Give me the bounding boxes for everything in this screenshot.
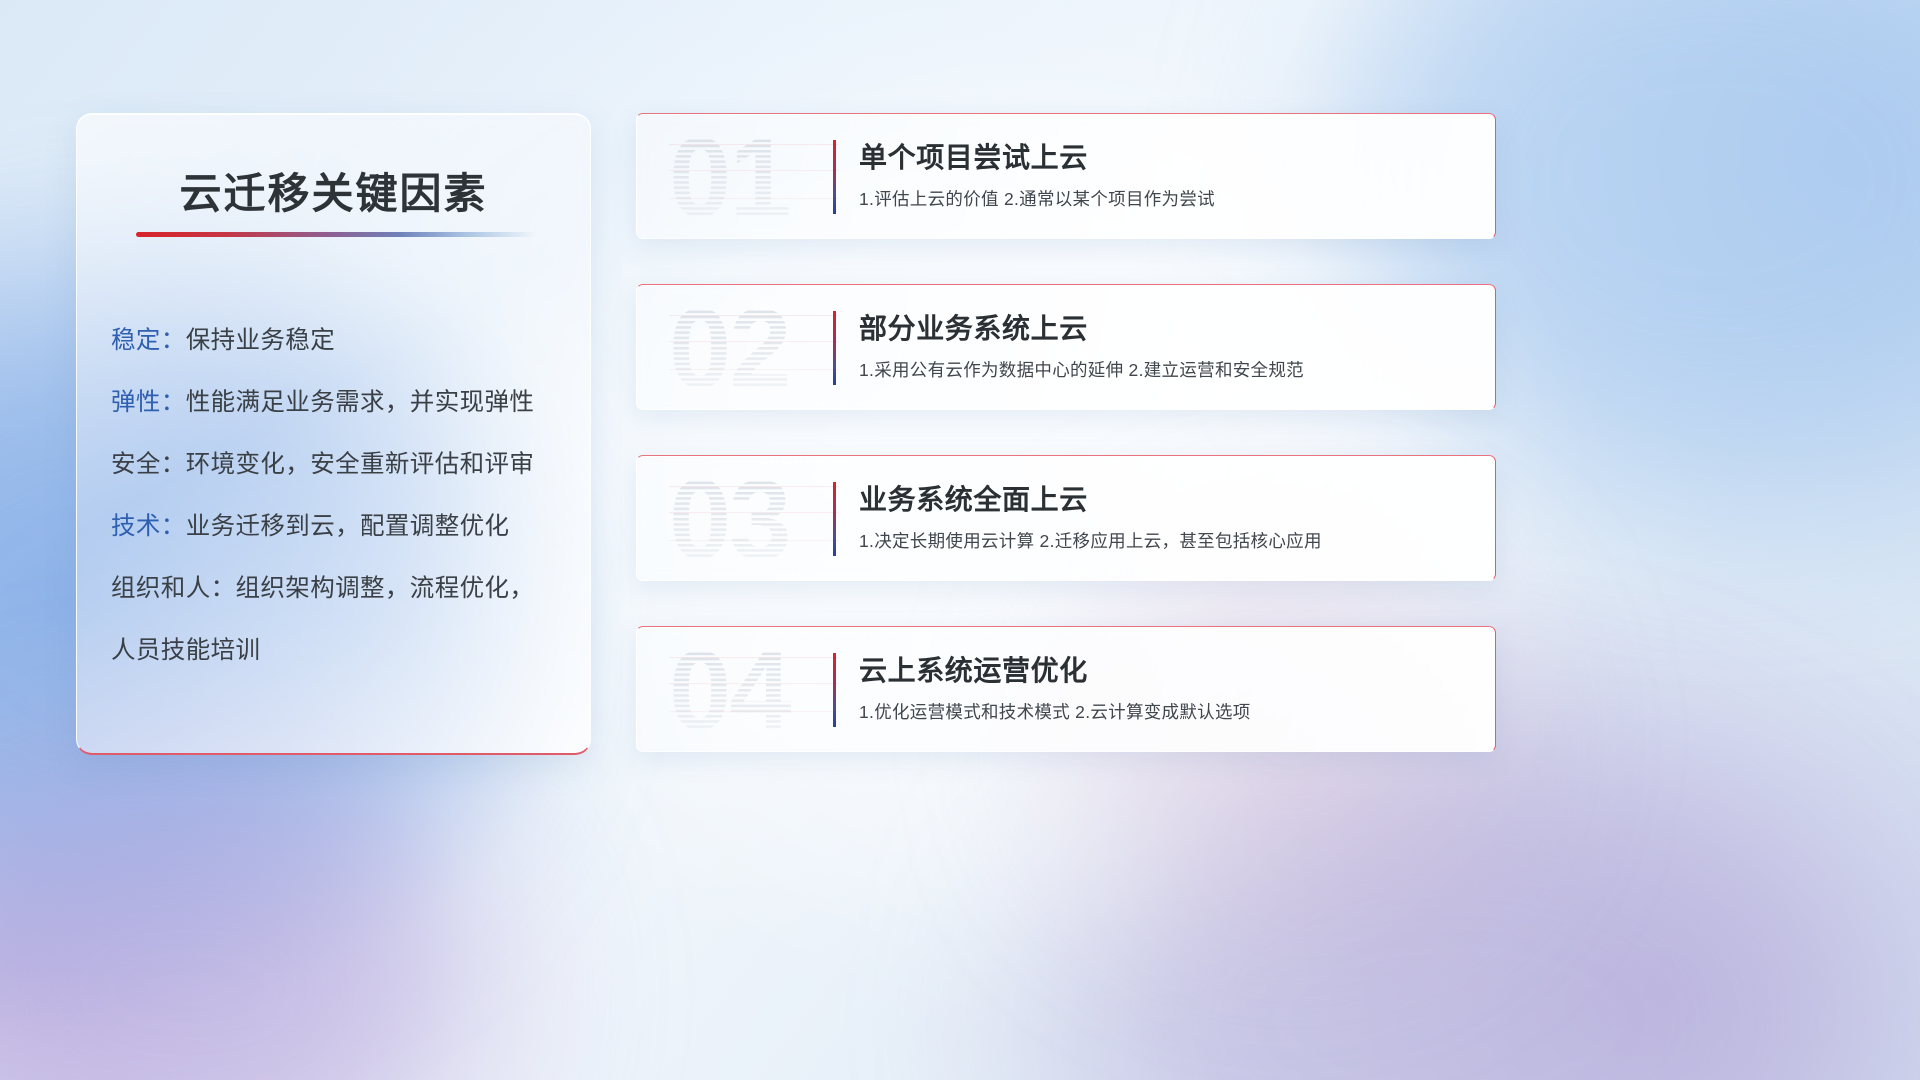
key-factor-text: 业务迁移到云，配置调整优化 [186, 513, 510, 540]
key-factors-list: 稳定：保持业务稳定弹性：性能满足业务需求，并实现弹性安全：环境变化，安全重新评估… [111, 310, 566, 682]
migration-stage-cards: 01单个项目尝试上云1.评估上云的价值 2.通常以某个项目作为尝试02部分业务系… [636, 113, 1496, 752]
stage-divider-bar [833, 140, 836, 214]
key-factor-text: 环境变化，安全重新评估和评审 [186, 451, 535, 478]
key-factor-label: 弹性： [111, 389, 186, 416]
stage-card-body: 业务系统全面上云1.决定长期使用云计算 2.迁移应用上云，甚至包括核心应用 [859, 481, 1473, 554]
key-factor-line: 技术：业务迁移到云，配置调整优化 [111, 496, 566, 558]
title-underline-rule [136, 232, 536, 237]
stage-heading: 云上系统运营优化 [859, 652, 1473, 690]
svg-text:03: 03 [669, 466, 790, 570]
key-factor-text: 人员技能培训 [111, 637, 260, 664]
stage-card-body: 部分业务系统上云1.采用公有云作为数据中心的延伸 2.建立运营和安全规范 [859, 310, 1473, 383]
stage-card[interactable]: 03业务系统全面上云1.决定长期使用云计算 2.迁移应用上云，甚至包括核心应用 [636, 455, 1496, 581]
stage-card[interactable]: 04云上系统运营优化1.优化运营模式和技术模式 2.云计算变成默认选项 [636, 626, 1496, 752]
key-factor-line: 组织和人：组织架构调整，流程优化， [111, 558, 566, 620]
page-title: 云迁移关键因素 [77, 160, 590, 221]
stage-card-body: 云上系统运营优化1.优化运营模式和技术模式 2.云计算变成默认选项 [859, 652, 1473, 725]
stage-description: 1.优化运营模式和技术模式 2.云计算变成默认选项 [859, 699, 1473, 725]
key-factor-text: 保持业务稳定 [186, 327, 335, 354]
stage-description: 1.采用公有云作为数据中心的延伸 2.建立运营和安全规范 [859, 357, 1473, 383]
svg-text:01: 01 [669, 124, 790, 228]
stage-card[interactable]: 01单个项目尝试上云1.评估上云的价值 2.通常以某个项目作为尝试 [636, 113, 1496, 239]
key-factor-text: 性能满足业务需求，并实现弹性 [186, 389, 535, 416]
key-factor-label: 技术： [111, 513, 186, 540]
stage-card[interactable]: 02部分业务系统上云1.采用公有云作为数据中心的延伸 2.建立运营和安全规范 [636, 284, 1496, 410]
stage-divider-bar [833, 311, 836, 385]
stage-description: 1.决定长期使用云计算 2.迁移应用上云，甚至包括核心应用 [859, 528, 1473, 554]
stage-heading: 部分业务系统上云 [859, 310, 1473, 348]
key-factor-line: 安全：环境变化，安全重新评估和评审 [111, 434, 566, 496]
background-glow-bottom-right [1040, 740, 1860, 1080]
svg-text:04: 04 [669, 637, 791, 741]
key-factor-line: 弹性：性能满足业务需求，并实现弹性 [111, 372, 566, 434]
stage-number-watermark: 02 [663, 295, 853, 399]
key-factors-panel: 云迁移关键因素 稳定：保持业务稳定弹性：性能满足业务需求，并实现弹性安全：环境变… [76, 113, 591, 755]
stage-description: 1.评估上云的价值 2.通常以某个项目作为尝试 [859, 186, 1473, 212]
svg-text:02: 02 [669, 295, 790, 399]
stage-number-watermark: 01 [663, 124, 853, 228]
key-factor-line: 人员技能培训 [111, 620, 566, 682]
stage-heading: 业务系统全面上云 [859, 481, 1473, 519]
stage-card-body: 单个项目尝试上云1.评估上云的价值 2.通常以某个项目作为尝试 [859, 139, 1473, 212]
stage-divider-bar [833, 653, 836, 727]
stage-number-watermark: 04 [663, 637, 853, 741]
key-factor-text: 组织架构调整，流程优化， [236, 575, 535, 602]
key-factor-label: 组织和人： [111, 575, 236, 602]
key-factor-line: 稳定：保持业务稳定 [111, 310, 566, 372]
stage-heading: 单个项目尝试上云 [859, 139, 1473, 177]
stage-number-watermark: 03 [663, 466, 853, 570]
stage-divider-bar [833, 482, 836, 556]
key-factor-label: 安全： [111, 451, 186, 478]
background-glow-lower-left [0, 760, 500, 1080]
key-factor-label: 稳定： [111, 327, 186, 354]
slide-canvas: 云迁移关键因素 稳定：保持业务稳定弹性：性能满足业务需求，并实现弹性安全：环境变… [0, 0, 1920, 1080]
